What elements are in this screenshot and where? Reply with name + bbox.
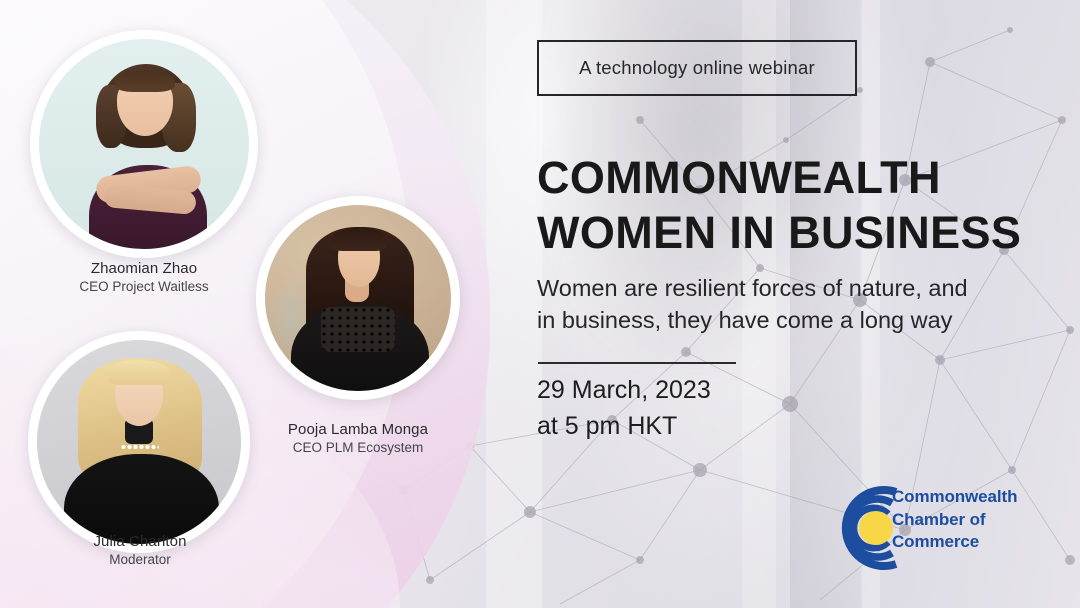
webinar-banner: Zhaomian Zhao CEO Project Waitless Pooja… [0,0,1080,608]
event-time: at 5 pm HKT [537,408,957,444]
speaker-photo-3 [37,340,241,544]
brand-logo: Commonwealth Chamber of Commerce [818,478,1068,578]
speaker-role: CEO PLM Ecosystem [243,439,473,457]
speaker-name: Julia Charlton [22,532,258,551]
event-date: 29 March, 2023 [537,372,957,408]
webinar-type-badge: A technology online webinar [537,40,857,96]
speaker-photo-1 [39,39,249,249]
logo-line-3: Commerce [892,531,1017,554]
divider [538,362,736,364]
badge-label: A technology online webinar [579,57,815,79]
logo-line-1: Commonwealth [892,486,1017,509]
headline-line-2: WOMEN IN BUSINESS [537,205,1057,260]
subtitle-line-1: Women are resilient forces of nature, an… [537,272,1057,304]
speaker-caption-3: Julia Charlton Moderator [22,532,258,569]
speaker-photo-2 [265,205,451,391]
speaker-name: Pooja Lamba Monga [243,420,473,439]
headline-line-1: COMMONWEALTH [537,150,1057,205]
event-datetime: 29 March, 2023 at 5 pm HKT [537,372,957,444]
avatar [30,30,258,258]
logo-line-2: Chamber of [892,509,1017,532]
page-title: COMMONWEALTH WOMEN IN BUSINESS [537,150,1057,260]
avatar [256,196,460,400]
brand-logo-text: Commonwealth Chamber of Commerce [892,486,1017,554]
speaker-caption-1: Zhaomian Zhao CEO Project Waitless [24,259,264,296]
speaker-role: CEO Project Waitless [24,278,264,296]
avatar [28,331,250,553]
subtitle-line-2: in business, they have come a long way [537,304,1057,336]
speaker-name: Zhaomian Zhao [24,259,264,278]
speaker-caption-2: Pooja Lamba Monga CEO PLM Ecosystem [243,420,473,457]
page-subtitle: Women are resilient forces of nature, an… [537,272,1057,336]
sun-circle-icon [859,511,893,545]
speaker-role: Moderator [22,551,258,569]
